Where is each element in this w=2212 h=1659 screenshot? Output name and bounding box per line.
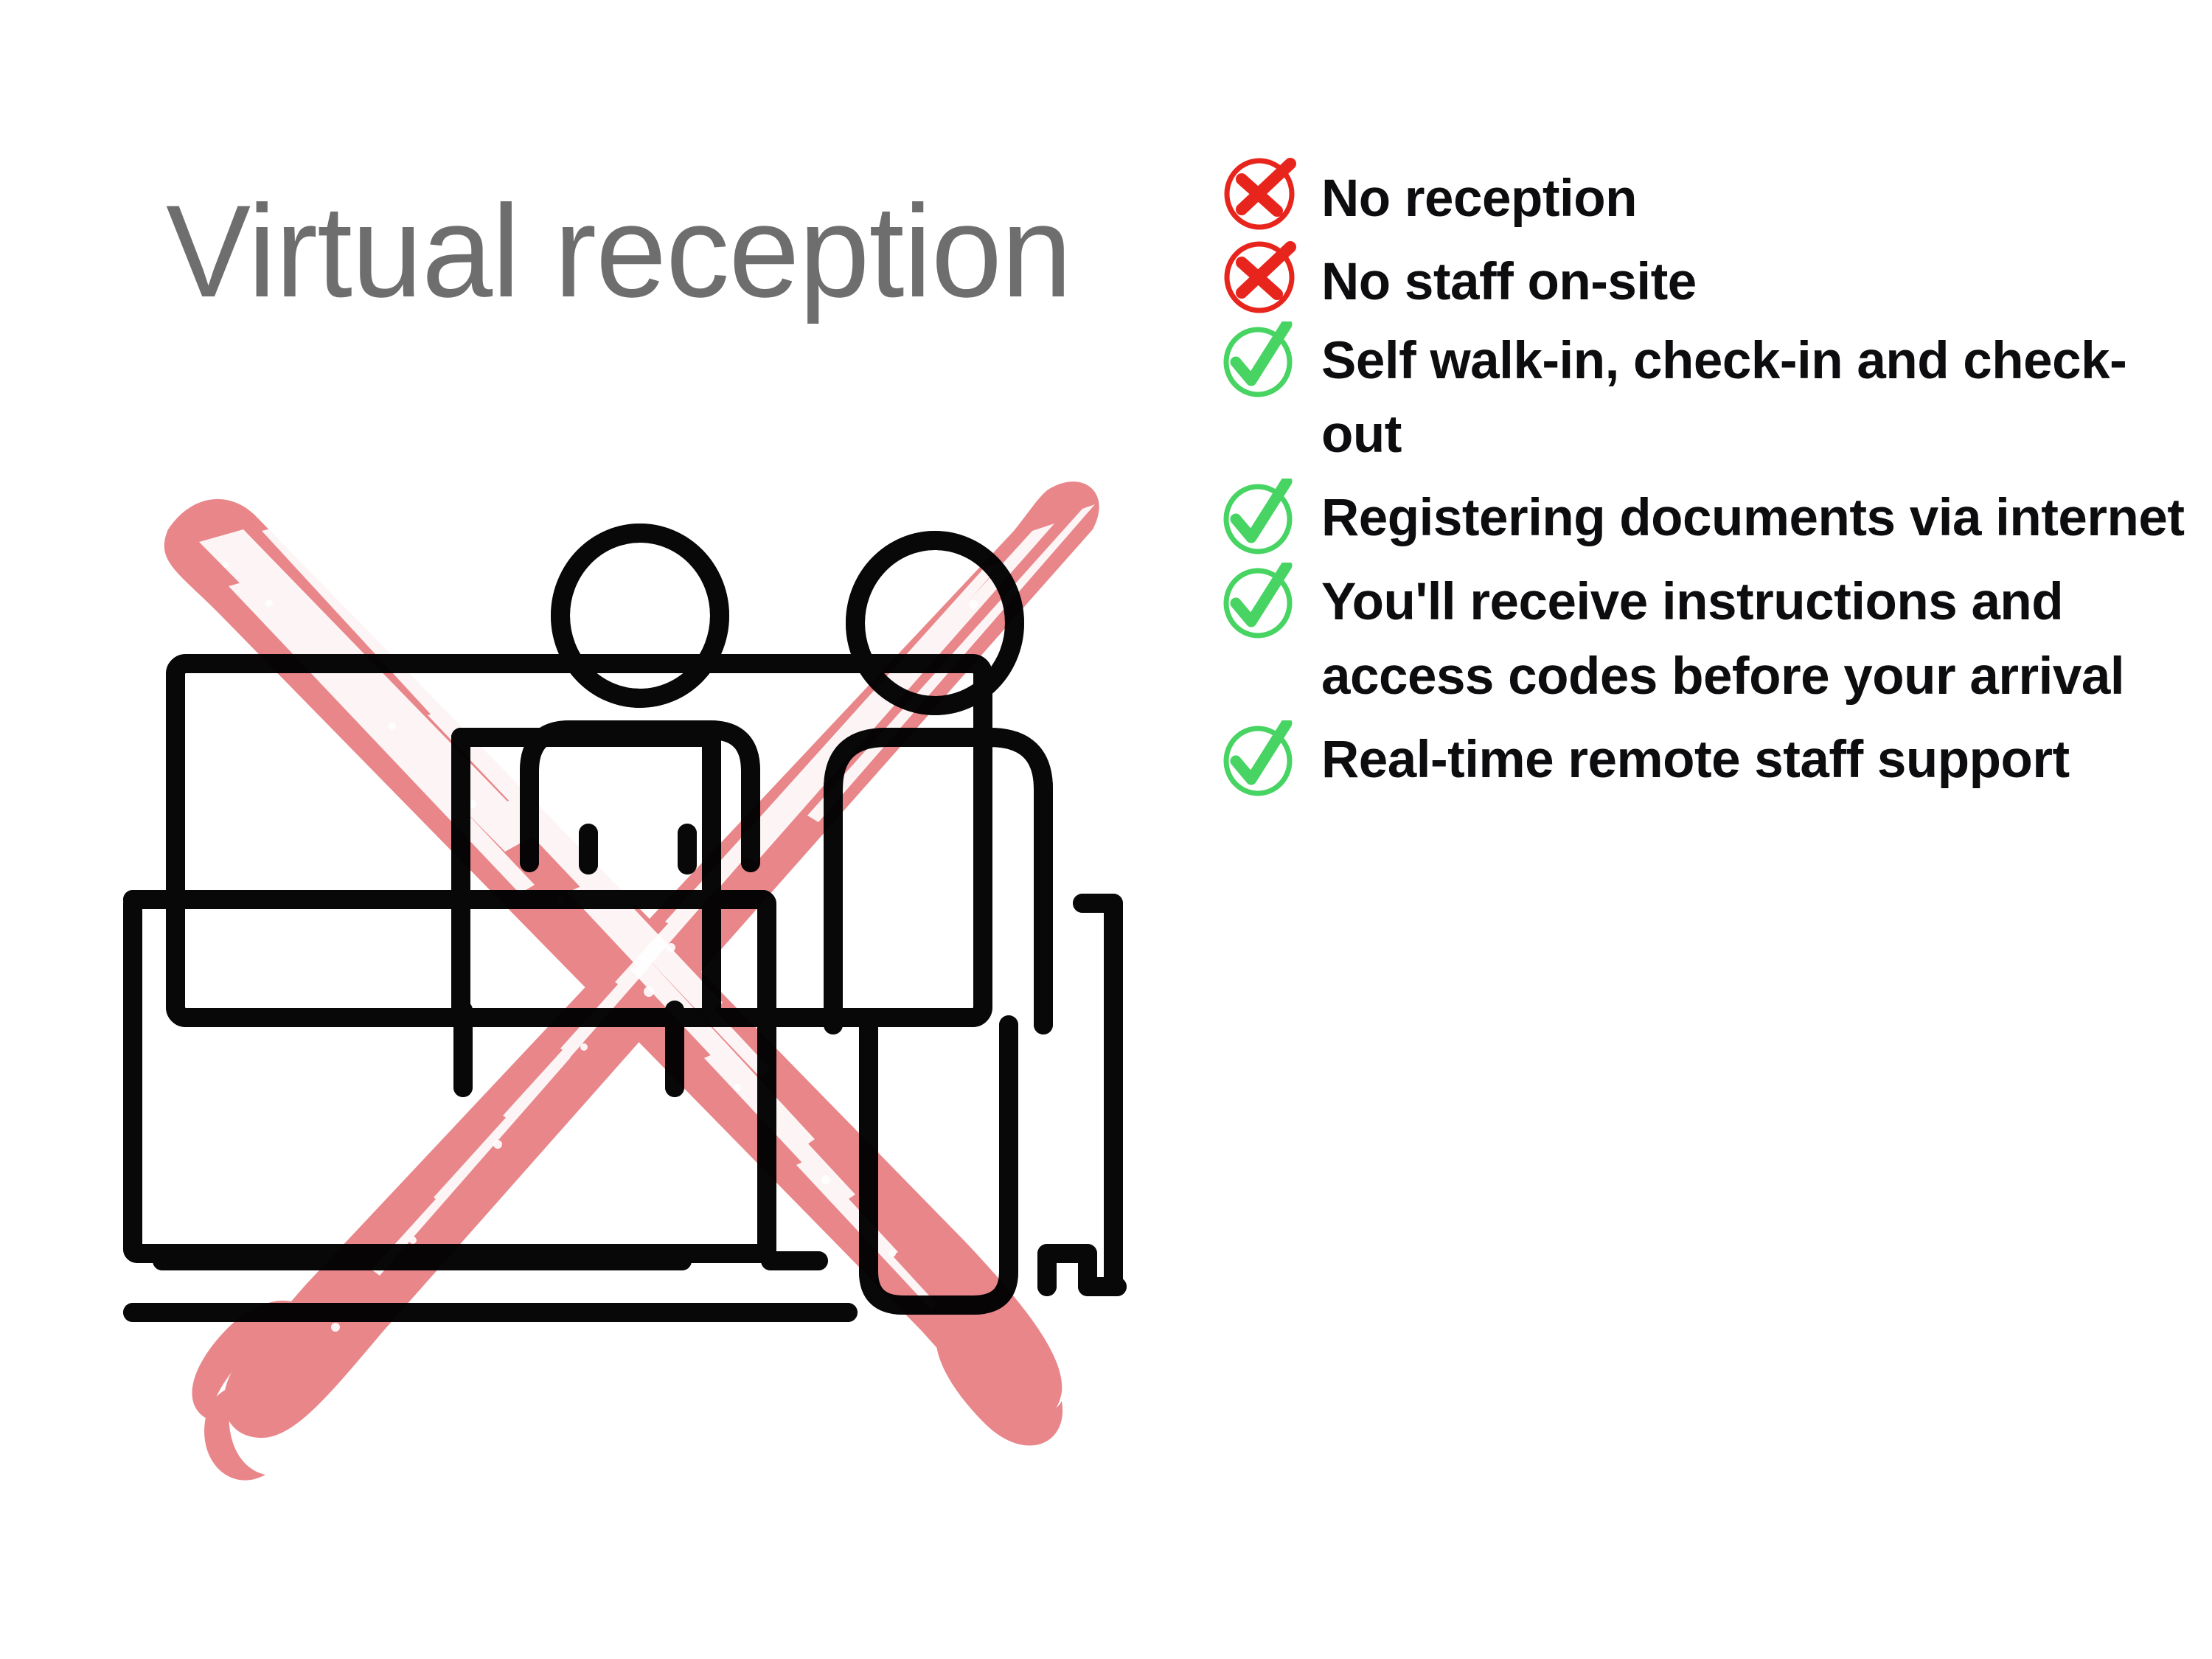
list-item: No staff on-site	[1217, 238, 2190, 320]
brush-stroke-x	[164, 481, 1099, 1481]
list-item: Self walk-in, check-in and check-out	[1217, 321, 2190, 473]
list-item: Registering documents via internet	[1217, 479, 2190, 557]
cross-circle-icon	[1217, 155, 1311, 233]
list-item-label: No reception	[1321, 155, 2190, 237]
list-item-label: Self walk-in, check-in and check-out	[1321, 321, 2190, 473]
cross-circle-icon	[1217, 238, 1311, 316]
list-item: No reception	[1217, 155, 2190, 237]
check-circle-icon	[1217, 321, 1311, 400]
check-circle-icon	[1217, 479, 1311, 557]
list-item: You'll receive instructions and access c…	[1217, 563, 2190, 714]
list-item-label: No staff on-site	[1321, 238, 2190, 320]
feature-checklist: No reception No staff on-site Self walk-…	[1217, 155, 2190, 804]
list-item: Real-time remote staff support	[1217, 720, 2190, 799]
list-item-label: You'll receive instructions and access c…	[1321, 563, 2190, 714]
list-item-label: Registering documents via internet	[1321, 479, 2190, 556]
list-item-label: Real-time remote staff support	[1321, 720, 2190, 798]
check-circle-icon	[1217, 563, 1311, 641]
page-title: Virtual reception	[166, 186, 1071, 317]
check-circle-icon	[1217, 720, 1311, 799]
left-panel: Virtual reception	[0, 0, 1180, 1659]
reception-illustration	[88, 420, 1209, 1541]
